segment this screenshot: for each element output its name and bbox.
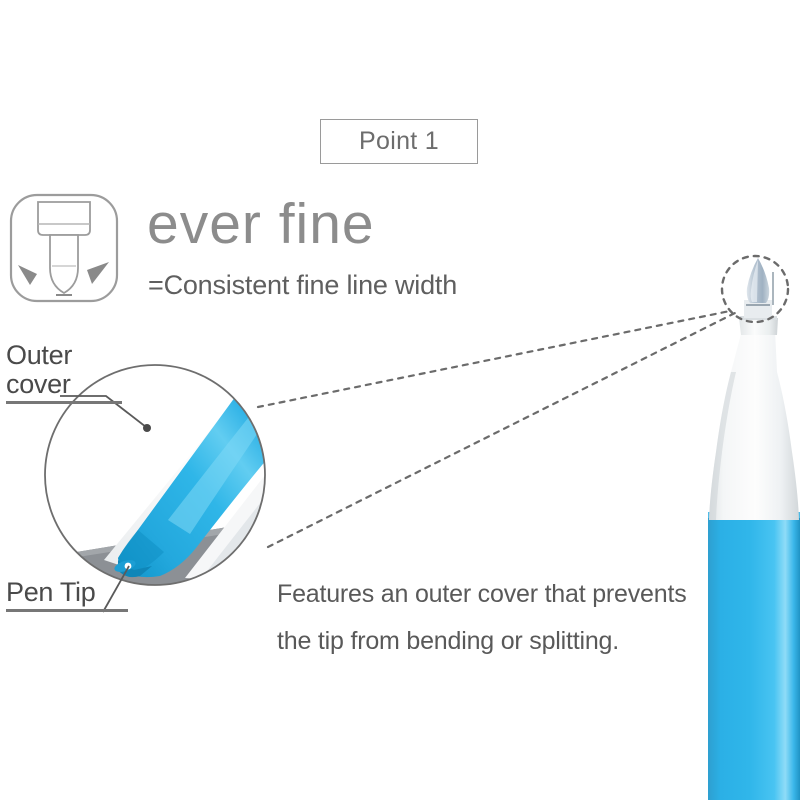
- description-line-1: Features an outer cover that prevents: [277, 571, 677, 618]
- callout-pen-tip: Pen Tip: [6, 578, 128, 612]
- brand-tagline: =Consistent fine line width: [148, 268, 457, 302]
- callout-pen-tip-line1: Pen Tip: [6, 578, 128, 607]
- point-badge-label: Point 1: [359, 127, 439, 156]
- callout-outer-cover-line2: cover: [6, 370, 122, 399]
- callout-outer-cover-line1: Outer: [6, 341, 122, 370]
- description-text: Features an outer cover that prevents th…: [277, 571, 677, 665]
- description-line-2: the tip from bending or splitting.: [277, 618, 677, 665]
- callout-outer-cover-rule: [6, 401, 122, 404]
- pen-nib-icon: [8, 192, 120, 304]
- infographic-canvas: Point 1 ever fine =Consistent fine line …: [0, 0, 800, 800]
- callout-pen-tip-rule: [6, 609, 128, 612]
- point-badge: Point 1: [320, 119, 478, 164]
- brand-name: ever fine: [147, 193, 375, 255]
- callout-outer-cover: Outer cover: [6, 341, 122, 404]
